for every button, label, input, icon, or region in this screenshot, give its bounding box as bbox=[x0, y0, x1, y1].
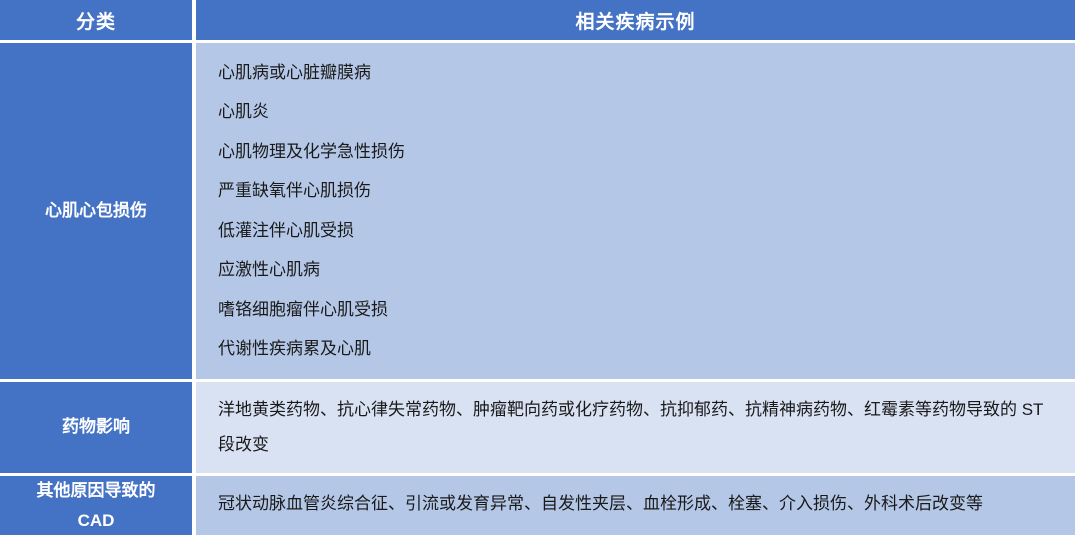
category-cell-myocardial-pericardial-injury: 心肌心包损伤 bbox=[0, 43, 196, 379]
table-body: 心肌心包损伤 心肌病或心脏瓣膜病 心肌炎 心肌物理及化学急性损伤 严重缺氧伴心肌… bbox=[0, 43, 1075, 535]
list-item: 心肌炎 bbox=[218, 92, 1059, 131]
table-row: 药物影响 洋地黄类药物、抗心律失常药物、肿瘤靶向药或化疗药物、抗抑郁药、抗精神病… bbox=[0, 379, 1075, 473]
list-item: 低灌注伴心肌受损 bbox=[218, 211, 1059, 250]
table-header: 分类 相关疾病示例 bbox=[0, 0, 1075, 43]
list-item: 严重缺氧伴心肌损伤 bbox=[218, 171, 1059, 210]
list-item: 代谢性疾病累及心肌 bbox=[218, 329, 1059, 368]
examples-cell-myocardial-pericardial-injury: 心肌病或心脏瓣膜病 心肌炎 心肌物理及化学急性损伤 严重缺氧伴心肌损伤 低灌注伴… bbox=[196, 43, 1075, 379]
category-label-line: CAD bbox=[6, 506, 186, 536]
table-header-row: 分类 相关疾病示例 bbox=[0, 0, 1075, 43]
list-item: 心肌病或心脏瓣膜病 bbox=[218, 53, 1059, 92]
column-header-category: 分类 bbox=[0, 0, 196, 43]
examples-cell-other-cad: 冠状动脉血管炎综合征、引流或发育异常、自发性夹层、血栓形成、栓塞、介入损伤、外科… bbox=[196, 473, 1075, 536]
category-cell-other-cad: 其他原因导致的 CAD bbox=[0, 473, 196, 536]
category-cell-drug-effects: 药物影响 bbox=[0, 379, 196, 473]
list-item: 应激性心肌病 bbox=[218, 250, 1059, 289]
disease-classification-table: 分类 相关疾病示例 心肌心包损伤 心肌病或心脏瓣膜病 心肌炎 心肌物理及化学急性… bbox=[0, 0, 1075, 535]
example-paragraph: 洋地黄类药物、抗心律失常药物、肿瘤靶向药或化疗药物、抗抑郁药、抗精神病药物、红霉… bbox=[218, 392, 1059, 463]
example-paragraph: 冠状动脉血管炎综合征、引流或发育异常、自发性夹层、血栓形成、栓塞、介入损伤、外科… bbox=[218, 486, 1059, 522]
category-label-line: 心肌心包损伤 bbox=[6, 196, 186, 226]
category-label-line: 药物影响 bbox=[6, 412, 186, 442]
table-row: 其他原因导致的 CAD 冠状动脉血管炎综合征、引流或发育异常、自发性夹层、血栓形… bbox=[0, 473, 1075, 536]
examples-cell-drug-effects: 洋地黄类药物、抗心律失常药物、肿瘤靶向药或化疗药物、抗抑郁药、抗精神病药物、红霉… bbox=[196, 379, 1075, 473]
table-row: 心肌心包损伤 心肌病或心脏瓣膜病 心肌炎 心肌物理及化学急性损伤 严重缺氧伴心肌… bbox=[0, 43, 1075, 379]
list-item: 心肌物理及化学急性损伤 bbox=[218, 132, 1059, 171]
category-label-line: 其他原因导致的 bbox=[6, 476, 186, 506]
example-list: 心肌病或心脏瓣膜病 心肌炎 心肌物理及化学急性损伤 严重缺氧伴心肌损伤 低灌注伴… bbox=[218, 53, 1059, 369]
disease-table-container: 分类 相关疾病示例 心肌心包损伤 心肌病或心脏瓣膜病 心肌炎 心肌物理及化学急性… bbox=[0, 0, 1080, 535]
list-item: 嗜铬细胞瘤伴心肌受损 bbox=[218, 290, 1059, 329]
column-header-examples: 相关疾病示例 bbox=[196, 0, 1075, 43]
